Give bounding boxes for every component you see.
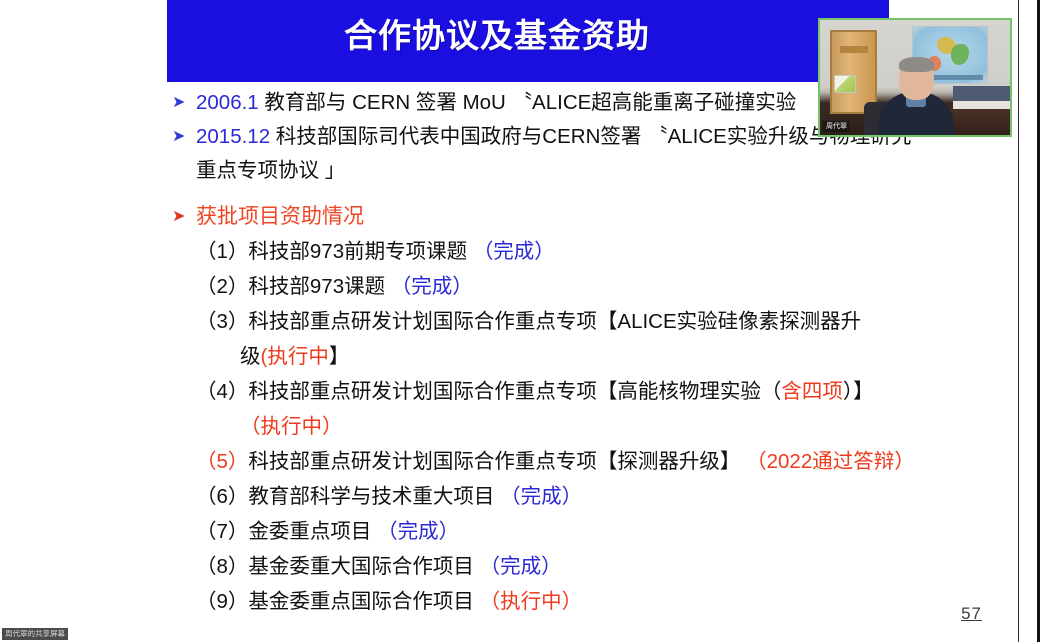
bullet-arrow-icon: ➤ — [172, 200, 185, 234]
item-1-number: （1） — [196, 240, 248, 263]
list-item: （4）科技部重点研发计划国际合作重点专项【高能核物理实验（含四项）】 — [0, 374, 1018, 409]
list-item: （9）基金委重点国际合作项目 （执行中） — [0, 584, 1018, 619]
list-item: （3）科技部重点研发计划国际合作重点专项【ALICE实验硅像素探测器升 — [0, 304, 1018, 339]
bullet-2-text: 科技部国际司代表中国政府与CERN签署 — [270, 125, 647, 148]
item-9-text: 基金委重点国际合作项目 — [248, 590, 479, 613]
person-hair — [899, 57, 934, 72]
item-3-cont-text: 级 — [240, 345, 261, 368]
bookshelf-papers — [953, 101, 1011, 109]
section-heading-label: 获批项目资助情况 — [196, 205, 364, 228]
item-3-text: 科技部重点研发计划国际合作重点专项【ALICE实验硅像素探测器升 — [248, 310, 861, 333]
item-5-status: （2022通过答辩） — [746, 450, 915, 473]
screen-share-viewport: 合作协议及基金资助 ➤2006.1 教育部与 CERN 签署 MoU 〝ALIC… — [0, 0, 1040, 642]
list-item: （7）金委重点项目 （完成） — [0, 514, 1018, 549]
item-5-text: 科技部重点研发计划国际合作重点专项【探测器升级】 — [248, 450, 746, 473]
item-6-text: 教育部科学与技术重大项目 — [248, 485, 500, 508]
bullet-2-date: 2015.12 — [196, 125, 270, 148]
door-sign — [840, 46, 868, 53]
slide-page-number: 57 — [961, 604, 982, 624]
item-2-text: 科技部973课题 — [248, 275, 390, 298]
bullet-1-quote: 〝ALICE超高能重离子碰撞实验 — [512, 91, 797, 114]
page-title: 合作协议及基金资助 — [167, 14, 827, 58]
item-5-number: （5） — [196, 450, 248, 473]
item-7-status: （完成） — [377, 520, 459, 543]
item-4-bracket: ）】 — [843, 380, 874, 403]
map-landmass — [951, 44, 969, 65]
item-7-text: 金委重点项目 — [248, 520, 377, 543]
bullet-arrow-icon: ➤ — [172, 86, 185, 120]
bullet-1-date: 2006.1 — [196, 91, 259, 114]
item-1-status: （完成） — [473, 240, 555, 263]
section-heading: ➤获批项目资助情况 — [0, 200, 1018, 234]
list-item-continuation: 级(执行中】 — [0, 339, 1018, 374]
wall-poster — [834, 75, 856, 93]
list-item: （8）基金委重大国际合作项目 （完成） — [0, 549, 1018, 584]
bullet-arrow-icon: ➤ — [172, 120, 185, 154]
bullet-2-continuation: 重点专项协议 」 — [0, 154, 1018, 188]
list-item-continuation: （执行中） — [0, 409, 1018, 444]
item-9-status: （执行中） — [480, 590, 583, 613]
item-1-text: 科技部973前期专项课题 — [248, 240, 472, 263]
item-4-note: 含四项 — [781, 380, 843, 403]
bookshelf — [953, 86, 1011, 101]
screen-share-watermark: 周代翠的共享屏幕 — [2, 628, 68, 640]
item-4-status: （执行中） — [240, 415, 343, 438]
item-3-number: （3） — [196, 310, 248, 333]
item-7-number: （7） — [196, 520, 248, 543]
item-6-number: （6） — [196, 485, 248, 508]
participant-name-label: 周代翠 — [823, 121, 850, 132]
bullet-1-text: 教育部与 CERN 签署 MoU — [259, 91, 512, 114]
list-item: （6）教育部科学与技术重大项目 （完成） — [0, 479, 1018, 514]
item-2-number: （2） — [196, 275, 248, 298]
item-4-text: 科技部重点研发计划国际合作重点专项【高能核物理实验（ — [248, 380, 781, 403]
participant-video-tile[interactable]: 周代翠 — [818, 18, 1012, 137]
slide-body: ➤2006.1 教育部与 CERN 签署 MoU 〝ALICE超高能重离子碰撞实… — [0, 86, 1018, 619]
item-2-status: （完成） — [391, 275, 473, 298]
list-item: （1）科技部973前期专项课题 （完成） — [0, 234, 1018, 269]
item-9-number: （9） — [196, 590, 248, 613]
item-8-text: 基金委重大国际合作项目 — [248, 555, 479, 578]
spacer — [0, 188, 1018, 200]
video-frame — [820, 20, 1010, 135]
list-item: （5）科技部重点研发计划国际合作重点专项【探测器升级】 （2022通过答辩） — [0, 444, 1018, 479]
item-8-number: （8） — [196, 555, 248, 578]
item-8-status: （完成） — [480, 555, 562, 578]
item-3-status: (执行中 — [261, 345, 329, 368]
item-6-status: （完成） — [500, 485, 582, 508]
list-item: （2）科技部973课题 （完成） — [0, 269, 1018, 304]
item-4-number: （4） — [196, 380, 248, 403]
item-3-cont-bracket: 】 — [329, 345, 350, 368]
